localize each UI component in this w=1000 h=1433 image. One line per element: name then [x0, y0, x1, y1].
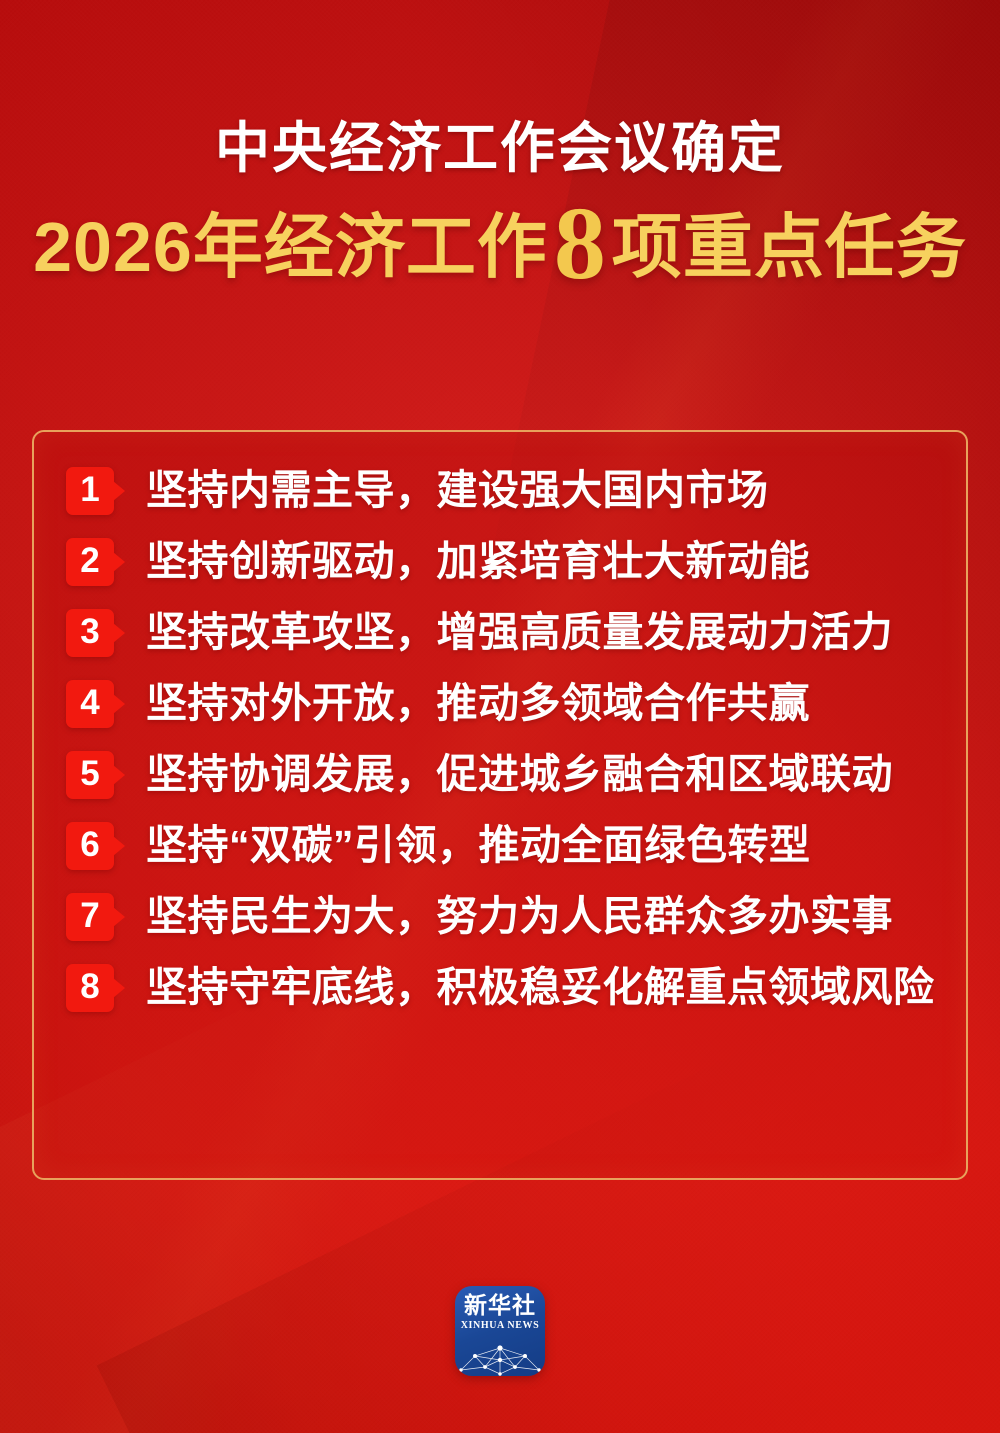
task-number-badge: 1 — [66, 467, 114, 515]
poster-canvas: 中央经济工作会议确定 2026年经济工作 8 项重点任务 1坚持内需主导，建设强… — [0, 0, 1000, 1433]
task-text: 坚持民生为大，努力为人民群众多办实事 — [146, 896, 893, 937]
task-text: 坚持改革攻坚，增强高质量发展动力活力 — [146, 612, 893, 653]
task-list: 1坚持内需主导，建设强大国内市场2坚持创新驱动，加紧培育壮大新动能3坚持改革攻坚… — [32, 455, 968, 1023]
task-number: 5 — [80, 756, 99, 791]
task-row: 8坚持守牢底线，积极稳妥化解重点领域风险 — [66, 952, 968, 1023]
task-row: 6坚持“双碳”引领，推动全面绿色转型 — [66, 810, 968, 881]
network-mesh-icon — [455, 1336, 545, 1376]
task-number-badge: 5 — [66, 751, 114, 799]
task-row: 5坚持协调发展，促进城乡融合和区域联动 — [66, 739, 968, 810]
task-row: 4坚持对外开放，推动多领域合作共赢 — [66, 668, 968, 739]
headline-secondary-prefix: 2026年经济工作 — [33, 212, 548, 282]
headline-primary: 中央经济工作会议确定 — [0, 118, 1000, 180]
task-number: 8 — [80, 969, 99, 1004]
xinhua-logo: 新华社 XINHUA NEWS — [455, 1286, 545, 1376]
headline-secondary: 2026年经济工作 8 项重点任务 — [0, 202, 1000, 294]
logo-chinese-name: 新华社 — [464, 1294, 536, 1317]
task-number-badge: 2 — [66, 538, 114, 586]
task-text: 坚持对外开放，推动多领域合作共赢 — [146, 683, 810, 724]
task-number: 4 — [80, 685, 99, 720]
task-number-badge: 7 — [66, 893, 114, 941]
task-number-badge: 8 — [66, 964, 114, 1012]
task-row: 7坚持民生为大，努力为人民群众多办实事 — [66, 881, 968, 952]
task-number: 2 — [80, 543, 99, 578]
headline-highlight-number: 8 — [548, 198, 612, 290]
task-number: 6 — [80, 827, 99, 862]
task-text: 坚持协调发展，促进城乡融合和区域联动 — [146, 754, 893, 795]
logo-tile: 新华社 XINHUA NEWS — [455, 1286, 545, 1376]
poster-header: 中央经济工作会议确定 2026年经济工作 8 项重点任务 — [0, 118, 1000, 293]
logo-english-name: XINHUA NEWS — [461, 1321, 540, 1331]
task-number-badge: 4 — [66, 680, 114, 728]
task-number: 1 — [80, 472, 99, 507]
task-number-badge: 6 — [66, 822, 114, 870]
headline-secondary-suffix: 项重点任务 — [612, 212, 967, 282]
task-number-badge: 3 — [66, 609, 114, 657]
task-text: 坚持守牢底线，积极稳妥化解重点领域风险 — [146, 967, 935, 1008]
task-number: 7 — [80, 898, 99, 933]
task-text: 坚持内需主导，建设强大国内市场 — [146, 470, 769, 511]
task-text: 坚持“双碳”引领，推动全面绿色转型 — [146, 825, 811, 866]
task-text: 坚持创新驱动，加紧培育壮大新动能 — [146, 541, 810, 582]
task-row: 1坚持内需主导，建设强大国内市场 — [66, 455, 968, 526]
task-row: 3坚持改革攻坚，增强高质量发展动力活力 — [66, 597, 968, 668]
task-number: 3 — [80, 614, 99, 649]
task-row: 2坚持创新驱动，加紧培育壮大新动能 — [66, 526, 968, 597]
